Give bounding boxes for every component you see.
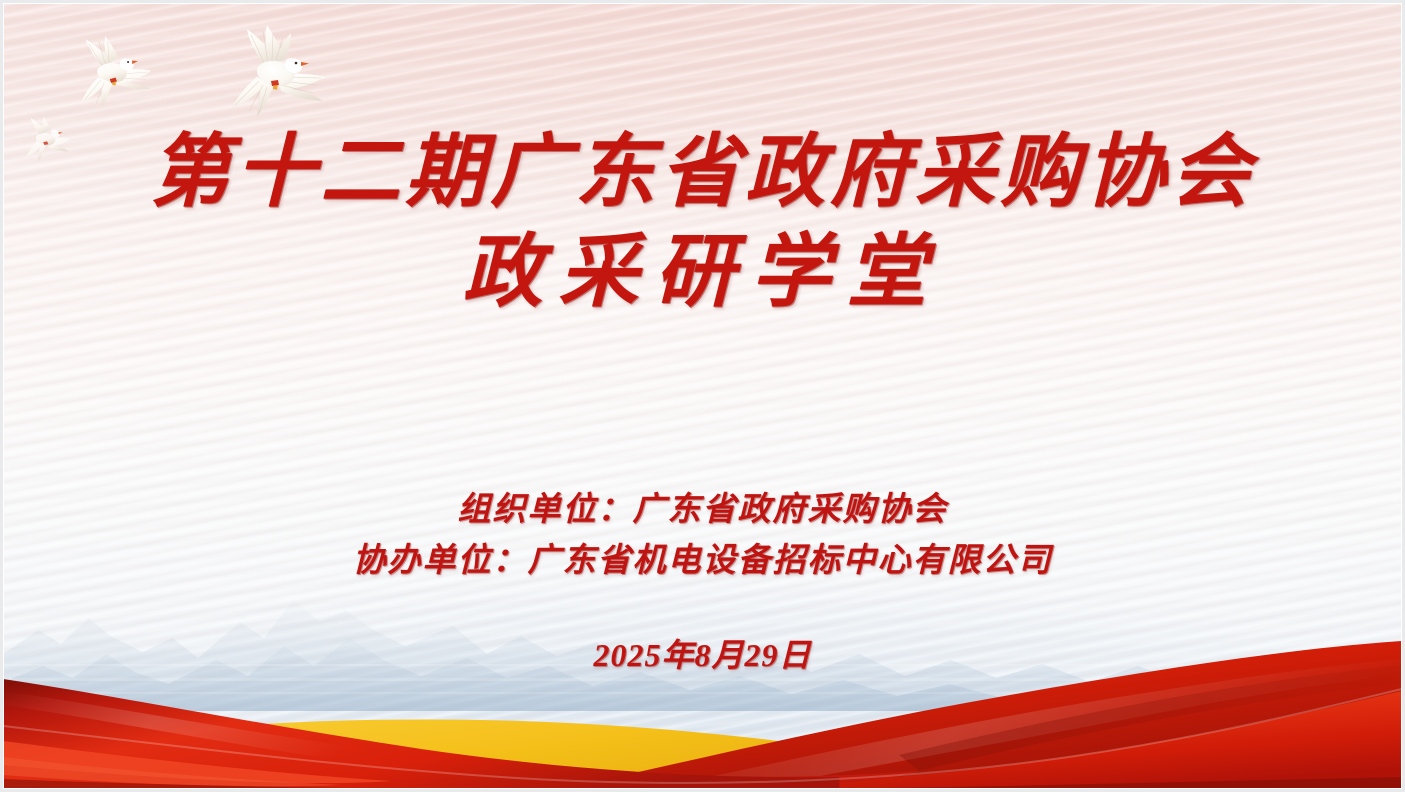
event-date: 2025年8月29日 <box>3 633 1402 677</box>
ribbon-wave-decoration <box>3 579 1402 789</box>
date-label: 2025年8月29日 <box>593 637 811 673</box>
title-line-primary: 第十二期广东省政府采购协会 <box>3 123 1402 223</box>
presentation-slide: 第十二期广东省政府采购协会 政采研学堂 组织单位：广东省政府采购协会 协办单位：… <box>0 0 1405 792</box>
dove-icon <box>57 28 163 116</box>
organizer-line: 组织单位：广东省政府采购协会 <box>3 485 1402 536</box>
organizer-info: 组织单位：广东省政府采购协会 协办单位：广东省机电设备招标中心有限公司 <box>3 485 1402 587</box>
title-line-secondary: 政采研学堂 <box>3 223 1402 323</box>
slide-title: 第十二期广东省政府采购协会 政采研学堂 <box>3 123 1402 323</box>
coorganizer-line: 协办单位：广东省机电设备招标中心有限公司 <box>3 536 1402 587</box>
dove-icon <box>199 19 339 127</box>
